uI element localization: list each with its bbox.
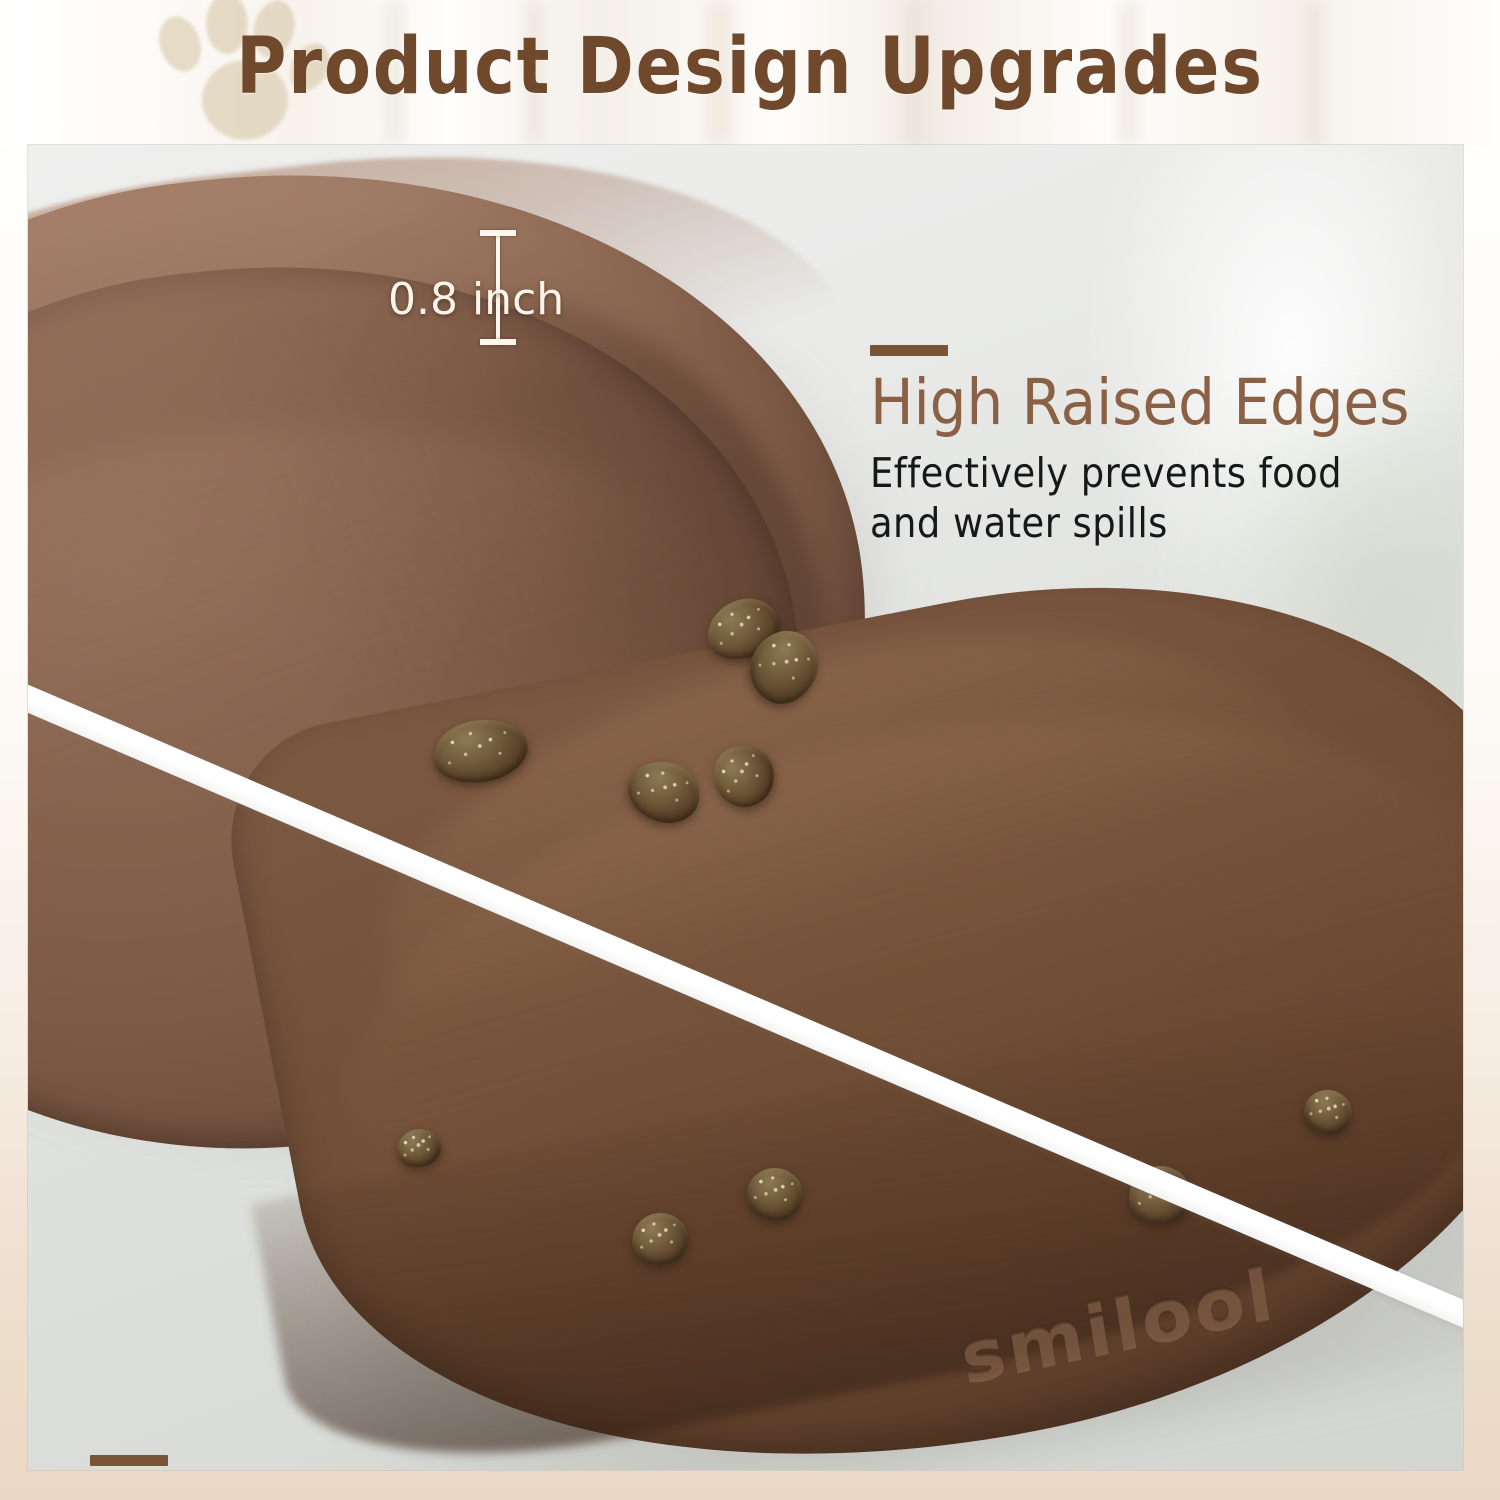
callout-high-raised-edges: High Raised Edges Effectively prevents f… [870,345,1463,548]
callout-keeping-floor-clean: Keeping the floor clean Minimizes time s… [90,1455,1150,1470]
kibble-piece [429,714,532,789]
kibble-piece [394,1125,444,1170]
callout-dash-icon [870,345,948,356]
page-title: Product Design Upgrades [90,22,1410,112]
kibble-piece [744,1164,807,1223]
dimension-label: 0.8 inch [388,274,564,325]
kibble-speckle-texture [394,1125,444,1170]
product-photo-panel: smilool 0.8 inch High Raised Edges Effec… [28,145,1463,1470]
kibble-speckle-texture [629,1210,690,1268]
dimension-cap-top-icon [480,230,516,236]
callout-subtext: Effectively prevents food and water spil… [870,448,1404,548]
dimension-cap-bottom-icon [480,339,516,345]
kibble-piece [629,1210,690,1268]
product-marketing-image: Product Design Upgrades smilool [0,0,1500,1500]
callout-dash-icon [90,1455,168,1466]
kibble-speckle-texture [744,1164,807,1223]
header-band: Product Design Upgrades [0,0,1500,146]
dimension-annotation: 0.8 inch [478,230,518,345]
kibble-speckle-texture [429,714,532,789]
callout-heading: High Raised Edges [870,370,1416,436]
